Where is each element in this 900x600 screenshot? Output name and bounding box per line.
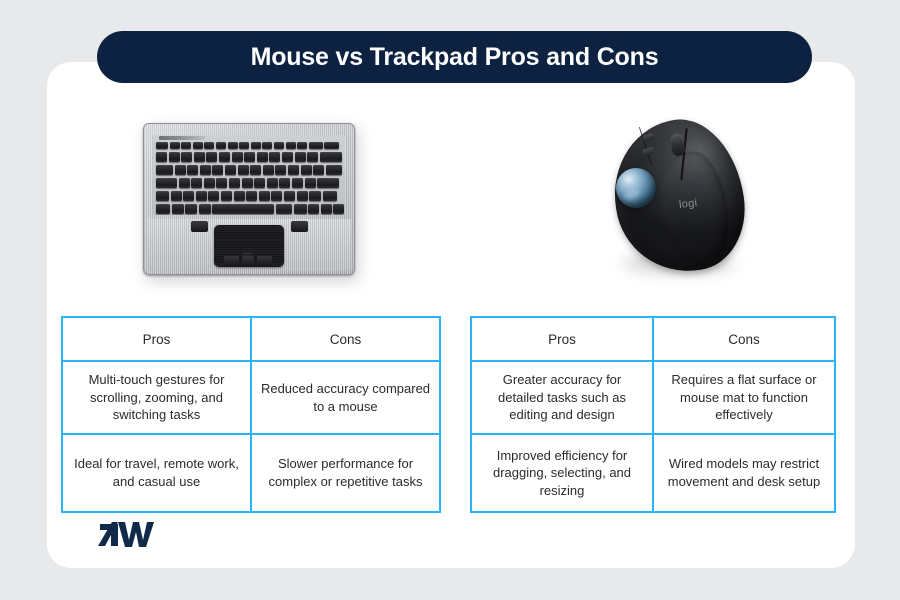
mouse-brand-label: logi [678,197,697,211]
trackpad-button-right[interactable] [257,256,272,267]
trackpad-nub [243,252,252,255]
title-banner: Mouse vs Trackpad Pros and Cons [97,31,812,83]
column-header-cons: Cons [653,317,835,361]
cell-con-1: Requires a flat surface or mouse mat to … [653,361,835,434]
trackpad-comparison-table: Pros Cons Multi-touch gestures for scrol… [61,316,441,513]
trackball-mouse-image: logi [587,112,777,294]
trackpad-button-left[interactable] [224,256,239,267]
trackpad-tab-right [291,221,308,232]
column-header-pros: Pros [471,317,653,361]
trackpad-tab-left [191,221,208,232]
cell-pro-2: Improved efficiency for dragging, select… [471,434,653,512]
mouse-trackball[interactable] [616,168,656,208]
cell-con-1: Reduced accuracy compared to a mouse [251,361,440,434]
table-row: Greater accuracy for detailed tasks such… [471,361,835,434]
table-row: Multi-touch gestures for scrolling, zoom… [62,361,440,434]
table-row: Ideal for travel, remote work, and casua… [62,434,440,512]
keyboard-row-space [156,204,344,214]
keyboard-row-numbers [156,152,342,162]
column-header-cons: Cons [251,317,440,361]
cell-pro-1: Greater accuracy for detailed tasks such… [471,361,653,434]
trackpad-keyboard-image [137,115,367,290]
keyboard-palm-rest [147,219,351,271]
mouse-comparison-table: Pros Cons Greater accuracy for detailed … [470,316,836,513]
page-title: Mouse vs Trackpad Pros and Cons [251,43,659,72]
trackpad-button-middle[interactable] [242,256,254,267]
keyboard-row-shift [156,191,337,201]
keyboard-brand-mark [159,136,205,140]
table-row: Improved efficiency for dragging, select… [471,434,835,512]
keyboard-row-function [156,142,339,149]
brand-monogram-icon [98,518,160,552]
keyboard-body [143,123,355,275]
keyboard-row-home [156,178,339,188]
table-header-row: Pros Cons [62,317,440,361]
comparison-tables: Pros Cons Multi-touch gestures for scrol… [0,316,900,496]
cell-con-2: Slower performance for complex or repeti… [251,434,440,512]
infographic-canvas: Mouse vs Trackpad Pros and Cons [0,0,900,600]
column-header-pros: Pros [62,317,251,361]
cell-pro-2: Ideal for travel, remote work, and casua… [62,434,251,512]
table-header-row: Pros Cons [471,317,835,361]
cell-pro-1: Multi-touch gestures for scrolling, zoom… [62,361,251,434]
keyboard-row-qwerty [156,165,342,175]
keyboard-key-deck [153,135,345,215]
product-images-row: logi [47,100,855,305]
cell-con-2: Wired models may restrict movement and d… [653,434,835,512]
